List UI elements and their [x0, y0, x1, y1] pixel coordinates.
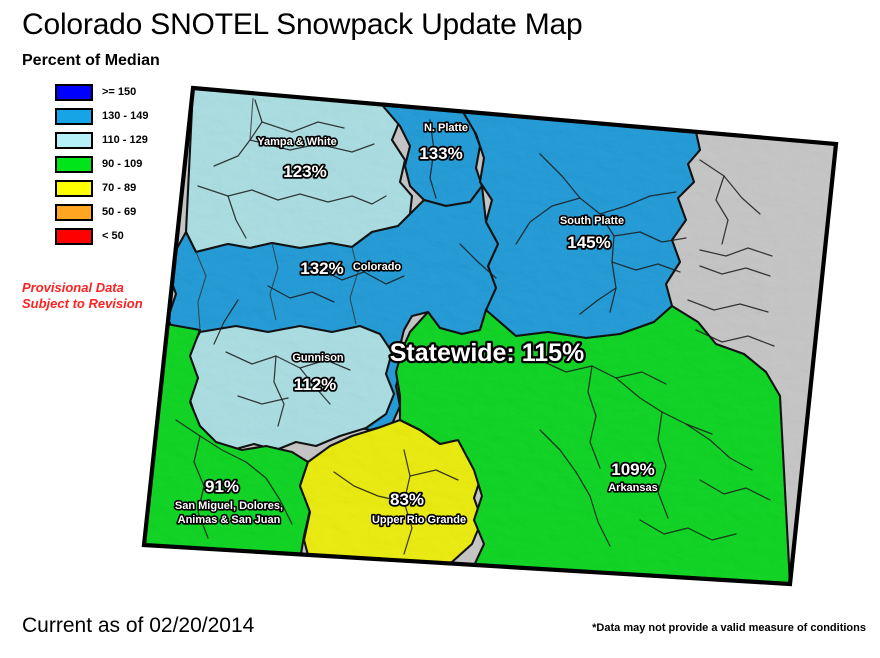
- basin-label-yampa-white: Yampa & White: [257, 136, 336, 148]
- basin-value-gunnison: 112%: [294, 375, 337, 394]
- basin-label-south-platte: South Platte: [560, 215, 624, 227]
- basin-value-yampa-white: 123%: [283, 162, 326, 181]
- statewide-label: Statewide: 115%: [390, 339, 585, 367]
- basin-label-upper-rio-grande: Upper Rio Grande: [372, 514, 466, 526]
- footer-date: Current as of 02/20/2014: [22, 614, 254, 638]
- basin-label-n-platte: N. Platte: [424, 122, 468, 134]
- basin-label-gunnison: Gunnison: [292, 352, 344, 364]
- basin-label-san-juan-group-line2: Animas & San Juan: [178, 514, 281, 526]
- basin-label-arkansas: Arkansas: [608, 482, 658, 494]
- colorado-basin-map: Yampa & White 123% N. Platte 133% South …: [0, 0, 880, 612]
- basin-value-san-juan-group: 91%: [205, 477, 239, 496]
- basin-label-colorado: Colorado: [353, 261, 402, 273]
- basin-value-n-platte: 133%: [419, 144, 462, 163]
- basin-value-upper-rio-grande: 83%: [390, 490, 424, 509]
- basin-label-san-juan-group-line1: San Miguel, Dolores,: [175, 500, 283, 512]
- basin-value-arkansas: 109%: [611, 460, 654, 479]
- basin-value-south-platte: 145%: [567, 233, 610, 252]
- footer-disclaimer: *Data may not provide a valid measure of…: [592, 622, 866, 634]
- basin-value-colorado: 132%: [300, 259, 343, 278]
